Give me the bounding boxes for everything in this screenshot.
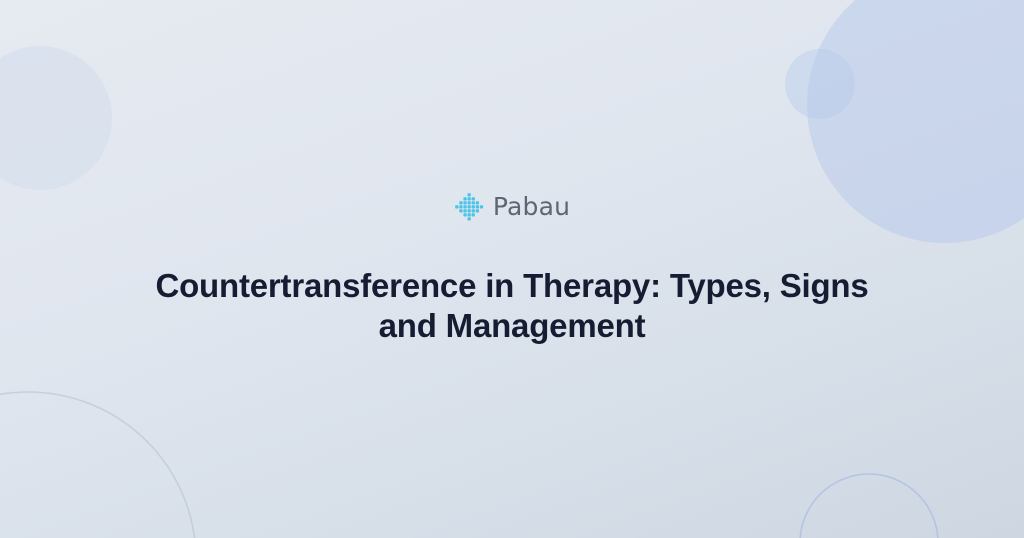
pabau-logo[interactable]: Pabau xyxy=(454,192,570,222)
article-hero-banner: Pabau Countertransference in Therapy: Ty… xyxy=(0,0,1024,538)
hero-content: Pabau Countertransference in Therapy: Ty… xyxy=(0,0,1024,538)
article-title: Countertransference in Therapy: Types, S… xyxy=(152,266,872,347)
pabau-diamond-dots-logo-icon xyxy=(454,192,484,222)
pabau-wordmark: Pabau xyxy=(493,194,570,219)
